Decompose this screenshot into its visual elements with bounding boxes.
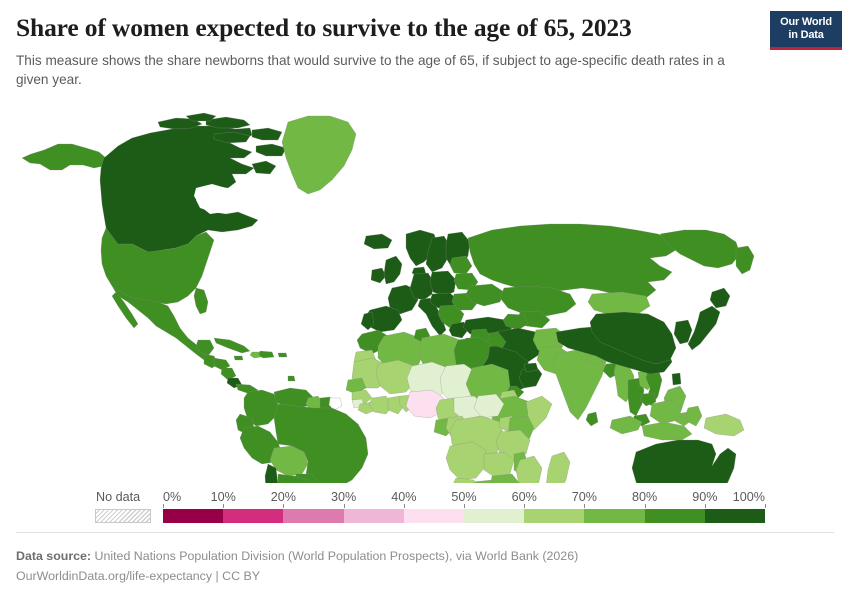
owid-map-chart: Share of women expected to survive to th… bbox=[0, 0, 850, 600]
legend-bin-70-80%[interactable] bbox=[584, 509, 644, 523]
owid-logo-line2: in Data bbox=[770, 29, 842, 42]
legend-tick-mark bbox=[645, 504, 646, 508]
legend-bin-20-30%[interactable] bbox=[283, 509, 343, 523]
country-jamaica[interactable] bbox=[234, 356, 243, 360]
legend-tick-70%: 70% bbox=[572, 490, 597, 504]
legend-bin-50-60%[interactable] bbox=[464, 509, 524, 523]
legend-bin-10-20%[interactable] bbox=[223, 509, 283, 523]
legend-color-bar[interactable] bbox=[163, 509, 765, 523]
country-japan[interactable] bbox=[710, 288, 730, 308]
legend-bin-30-40%[interactable] bbox=[344, 509, 404, 523]
country-canada[interactable] bbox=[252, 128, 282, 140]
country-cuba[interactable] bbox=[214, 338, 250, 353]
country-taiwan[interactable] bbox=[672, 373, 681, 385]
legend-tick-0%: 0% bbox=[163, 490, 181, 504]
world-map[interactable] bbox=[0, 108, 850, 483]
legend-tick-50%: 50% bbox=[451, 490, 476, 504]
legend-bin-0-10%[interactable] bbox=[163, 509, 223, 523]
country-canada[interactable] bbox=[186, 113, 216, 121]
country-canada[interactable] bbox=[256, 144, 286, 156]
country-poland[interactable] bbox=[430, 271, 456, 296]
country-united-states[interactable] bbox=[194, 288, 208, 314]
legend-tick-10%: 10% bbox=[211, 490, 236, 504]
country-sri-lanka[interactable] bbox=[586, 412, 598, 426]
legend-tick-mark bbox=[163, 504, 164, 508]
legend-bin-40-50%[interactable] bbox=[404, 509, 464, 523]
no-data-swatch[interactable] bbox=[95, 509, 151, 523]
legend-tick-mark bbox=[705, 504, 706, 508]
owid-logo-line1: Our World bbox=[770, 16, 842, 29]
country-kamchatka[interactable] bbox=[736, 246, 754, 274]
map-countries[interactable] bbox=[22, 113, 772, 483]
legend-tick-100%: 100% bbox=[733, 490, 765, 504]
chart-header: Share of women expected to survive to th… bbox=[0, 0, 850, 89]
country-germany[interactable] bbox=[410, 273, 434, 300]
country-united-kingdom[interactable] bbox=[384, 256, 402, 284]
legend-tick-mark bbox=[283, 504, 284, 508]
legend-tick-mark bbox=[765, 504, 766, 508]
country-canada[interactable] bbox=[100, 126, 258, 254]
country-angola[interactable] bbox=[446, 442, 486, 480]
country-mozambique[interactable] bbox=[516, 456, 542, 483]
legend-tick-30%: 30% bbox=[331, 490, 356, 504]
legend-tick-90%: 90% bbox=[692, 490, 717, 504]
footer-divider bbox=[16, 532, 834, 533]
legend-tick-mark bbox=[344, 504, 345, 508]
country-indonesia-sulawesi[interactable] bbox=[686, 406, 702, 426]
map-legend[interactable]: No data 0%10%20%30%40%50%60%70%80%90%100… bbox=[0, 490, 850, 535]
legend-tick-80%: 80% bbox=[632, 490, 657, 504]
chart-subtitle: This measure shows the share newborns th… bbox=[16, 51, 738, 89]
country-papua-new-guinea[interactable] bbox=[704, 414, 744, 436]
data-source-text: United Nations Population Division (Worl… bbox=[95, 549, 579, 563]
legend-tick-20%: 20% bbox=[271, 490, 296, 504]
country-russia[interactable] bbox=[468, 224, 676, 298]
legend-tick-60%: 60% bbox=[512, 490, 537, 504]
legend-tick-mark bbox=[464, 504, 465, 508]
country-puerto-rico[interactable] bbox=[278, 353, 287, 357]
legend-bin-90-100%[interactable] bbox=[705, 509, 765, 523]
owid-logo[interactable]: Our World in Data bbox=[770, 11, 842, 50]
legend-tick-labels: 0%10%20%30%40%50%60%70%80%90%100% bbox=[0, 490, 850, 507]
legend-bin-80-90%[interactable] bbox=[645, 509, 705, 523]
page-title: Share of women expected to survive to th… bbox=[16, 14, 756, 43]
legend-tick-mark bbox=[584, 504, 585, 508]
world-map-svg[interactable] bbox=[0, 108, 850, 483]
country-korea[interactable] bbox=[674, 320, 692, 344]
country-baltics[interactable] bbox=[450, 256, 472, 274]
legend-tick-40%: 40% bbox=[391, 490, 416, 504]
legend-tick-mark bbox=[524, 504, 525, 508]
legend-tick-mark bbox=[223, 504, 224, 508]
data-source-label: Data source: bbox=[16, 549, 91, 563]
country-united-states[interactable] bbox=[22, 144, 106, 170]
legend-tick-mark bbox=[404, 504, 405, 508]
country-ireland[interactable] bbox=[371, 268, 386, 283]
country-madagascar[interactable] bbox=[546, 452, 570, 483]
chart-footer: Data source: United Nations Population D… bbox=[16, 546, 816, 586]
country-japan[interactable] bbox=[688, 306, 720, 350]
country-namibia[interactable] bbox=[450, 478, 478, 483]
legend-bin-60-70%[interactable] bbox=[524, 509, 584, 523]
country-trinidad[interactable] bbox=[288, 376, 295, 381]
country-greenland[interactable] bbox=[282, 116, 356, 194]
data-source: Data source: United Nations Population D… bbox=[16, 546, 816, 566]
country-iceland[interactable] bbox=[364, 234, 392, 249]
country-australia[interactable] bbox=[632, 440, 736, 483]
license-line[interactable]: OurWorldinData.org/life-expectancy | CC … bbox=[16, 566, 816, 586]
country-canada[interactable] bbox=[252, 161, 276, 174]
